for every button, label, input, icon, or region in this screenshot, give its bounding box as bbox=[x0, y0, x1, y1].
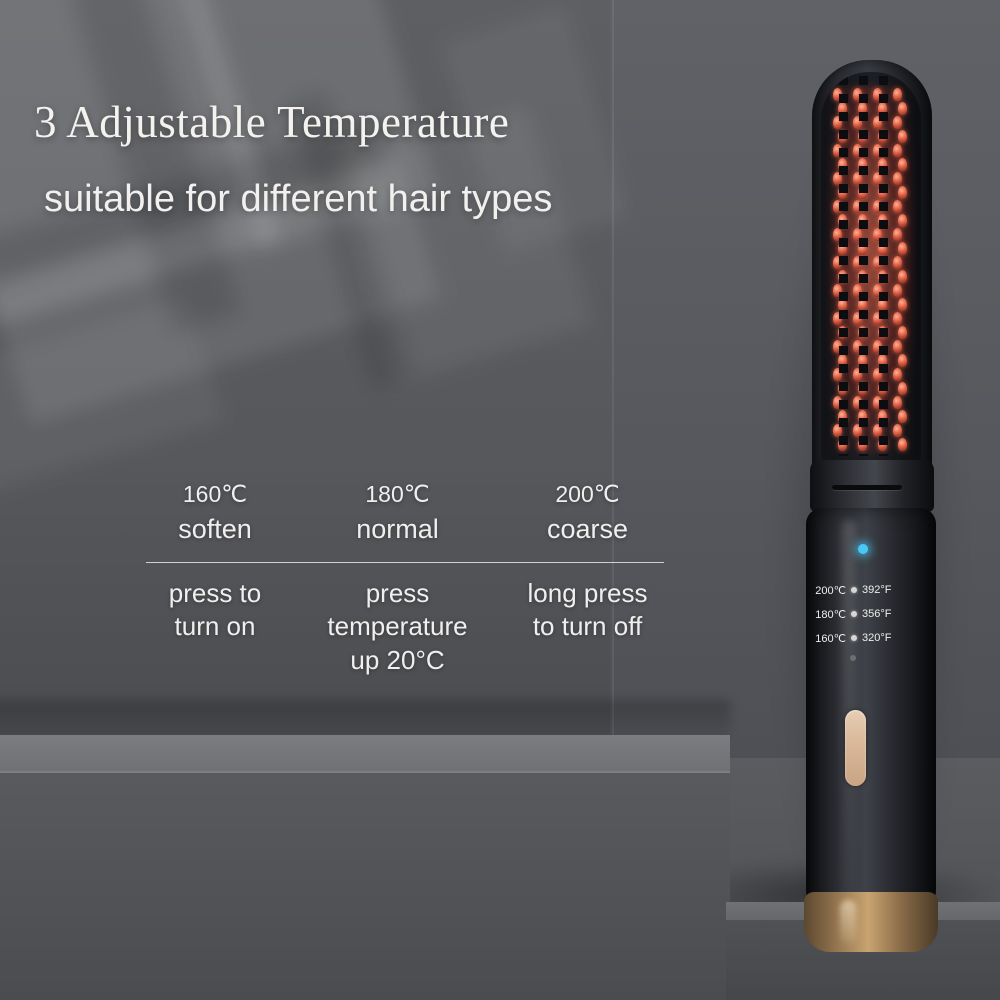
bristle bbox=[893, 256, 902, 269]
device-temp-dot-icon bbox=[851, 587, 857, 593]
device-gold-base bbox=[804, 892, 938, 952]
spec-col-coarse: 200℃ coarse bbox=[505, 482, 670, 544]
headline: 3 Adjustable Temperature bbox=[34, 96, 509, 148]
device-temp-celsius: 180℃ bbox=[810, 608, 846, 621]
bristle bbox=[898, 298, 907, 311]
bristle bbox=[893, 200, 902, 213]
spec-action-line: press to bbox=[140, 577, 290, 610]
device-temp-celsius: 200℃ bbox=[810, 584, 846, 597]
spec-row-temperatures: 160℃ soften 180℃ normal 200℃ coarse bbox=[140, 482, 670, 544]
spec-action-line: to turn off bbox=[505, 610, 670, 643]
bristle bbox=[893, 424, 902, 437]
spec-action-press-temperature-up: press temperature up 20°C bbox=[290, 577, 505, 677]
bristle bbox=[898, 186, 907, 199]
spec-row-actions: press to turn on press temperature up 20… bbox=[140, 577, 670, 677]
bristle bbox=[898, 270, 907, 283]
device-temperature-legend: 200℃ 392°F 180℃ 356°F 160℃ 320°F bbox=[810, 578, 920, 650]
device-temp-celsius: 160℃ bbox=[810, 632, 846, 645]
bristle bbox=[898, 102, 907, 115]
power-button[interactable] bbox=[845, 710, 866, 786]
spec-temp-value: 180℃ bbox=[290, 482, 505, 508]
spec-action-line: temperature bbox=[290, 610, 505, 643]
bristle bbox=[898, 326, 907, 339]
bristle bbox=[893, 172, 902, 185]
bristle bbox=[898, 354, 907, 367]
device-handle bbox=[806, 508, 936, 923]
device-temp-row: 180℃ 356°F bbox=[810, 602, 920, 626]
bristle bbox=[898, 214, 907, 227]
spec-action-line: press bbox=[290, 577, 505, 610]
device-temp-fahrenheit: 356°F bbox=[862, 608, 896, 620]
spec-temp-value: 160℃ bbox=[140, 482, 290, 508]
spec-type-label: normal bbox=[290, 514, 505, 544]
bristle bbox=[893, 284, 902, 297]
temperature-spec-table: 160℃ soften 180℃ normal 200℃ coarse pres… bbox=[140, 482, 670, 677]
spec-action-line: long press bbox=[505, 577, 670, 610]
bristle bbox=[893, 116, 902, 129]
device-temp-fahrenheit: 392°F bbox=[862, 584, 896, 596]
bristle bbox=[893, 144, 902, 157]
device-temp-dot-icon bbox=[851, 611, 857, 617]
bristle bbox=[898, 382, 907, 395]
bristle bbox=[893, 368, 902, 381]
comb-tooth-column bbox=[859, 76, 868, 456]
subheadline: suitable for different hair types bbox=[44, 178, 552, 221]
collar-vent-slot bbox=[832, 485, 902, 490]
bristle bbox=[893, 228, 902, 241]
spec-col-soften: 160℃ soften bbox=[140, 482, 290, 544]
power-led-indicator bbox=[858, 544, 868, 554]
brush-head-inner bbox=[821, 72, 921, 468]
spec-type-label: coarse bbox=[505, 514, 670, 544]
bristle bbox=[893, 340, 902, 353]
bristle bbox=[893, 88, 902, 101]
bristle bbox=[893, 312, 902, 325]
device-temp-dot-icon bbox=[851, 635, 857, 641]
device-temp-row: 160℃ 320°F bbox=[810, 626, 920, 650]
spec-type-label: soften bbox=[140, 514, 290, 544]
comb-tooth-column bbox=[879, 76, 888, 456]
product-photo-scene: 3 Adjustable Temperature suitable for di… bbox=[0, 0, 1000, 1000]
bristle bbox=[898, 410, 907, 423]
hair-straightener-brush: 200℃ 392°F 180℃ 356°F 160℃ 320°F bbox=[790, 60, 940, 905]
bristle bbox=[898, 438, 907, 451]
counter-front-face bbox=[0, 773, 730, 1000]
bristle bbox=[898, 158, 907, 171]
spec-col-normal: 180℃ normal bbox=[290, 482, 505, 544]
spec-action-line: turn on bbox=[140, 610, 290, 643]
device-temp-fahrenheit: 320°F bbox=[862, 632, 896, 644]
device-status-dot-icon bbox=[850, 655, 856, 661]
bristle bbox=[898, 242, 907, 255]
spec-divider bbox=[146, 562, 664, 563]
comb-tooth-column bbox=[839, 76, 848, 456]
bristle bbox=[893, 396, 902, 409]
bristle bbox=[898, 130, 907, 143]
spec-action-long-press-off: long press to turn off bbox=[505, 577, 670, 677]
spec-temp-value: 200℃ bbox=[505, 482, 670, 508]
spec-action-line: up 20°C bbox=[290, 644, 505, 677]
device-temp-row: 200℃ 392°F bbox=[810, 578, 920, 602]
spec-action-press-to-turn-on: press to turn on bbox=[140, 577, 290, 677]
base-highlight bbox=[840, 900, 856, 944]
